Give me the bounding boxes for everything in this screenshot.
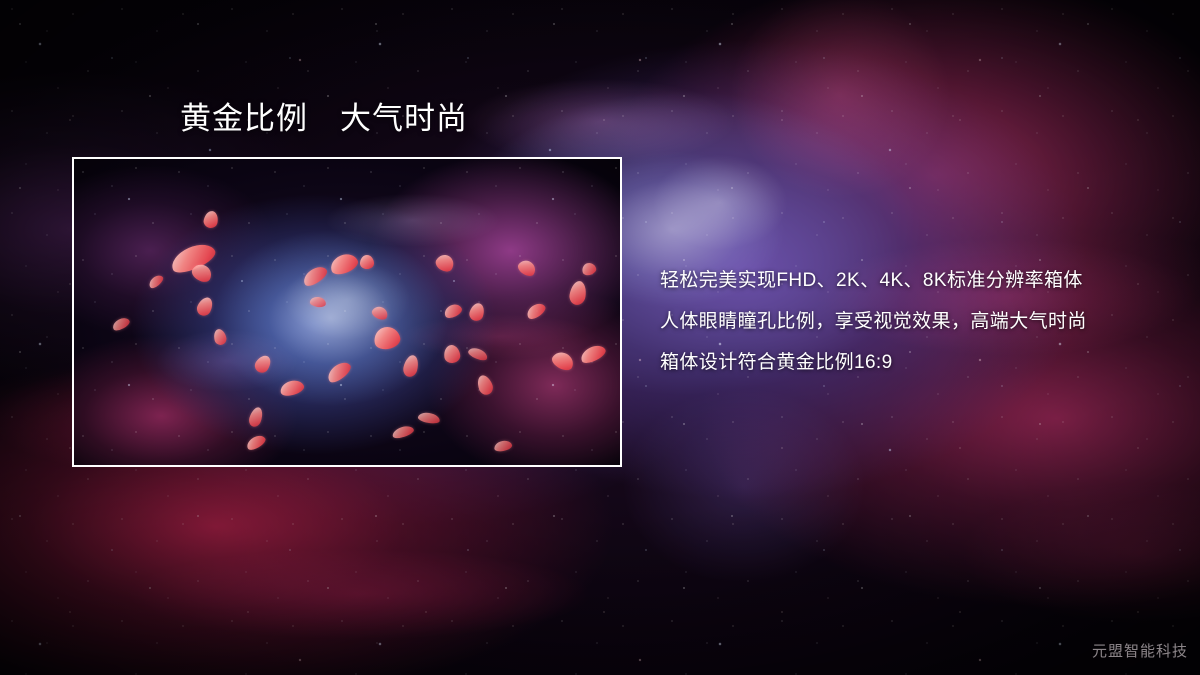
feature-description: 轻松完美实现FHD、2K、4K、8K标准分辨率箱体 人体眼睛瞳孔比例，享受视觉效… [660, 260, 1180, 383]
petal [360, 255, 374, 269]
slide-title: 黄金比例 大气时尚 [180, 101, 468, 137]
description-line-3: 箱体设计符合黄金比例16:9 [660, 342, 1180, 383]
presentation-slide: 黄金比例 大气时尚 轻松完美实现FHD、2K、4K、8K标准分辨率箱体 人体眼睛… [0, 0, 1200, 675]
company-watermark: 元盟智能科技 [1092, 640, 1188, 661]
description-line-2: 人体眼睛瞳孔比例，享受视觉效果，高端大气时尚 [660, 301, 1180, 342]
description-line-1: 轻松完美实现FHD、2K、4K、8K标准分辨率箱体 [660, 260, 1180, 301]
photo-frame [72, 157, 622, 467]
petals-in-galaxy-photo [74, 159, 620, 465]
